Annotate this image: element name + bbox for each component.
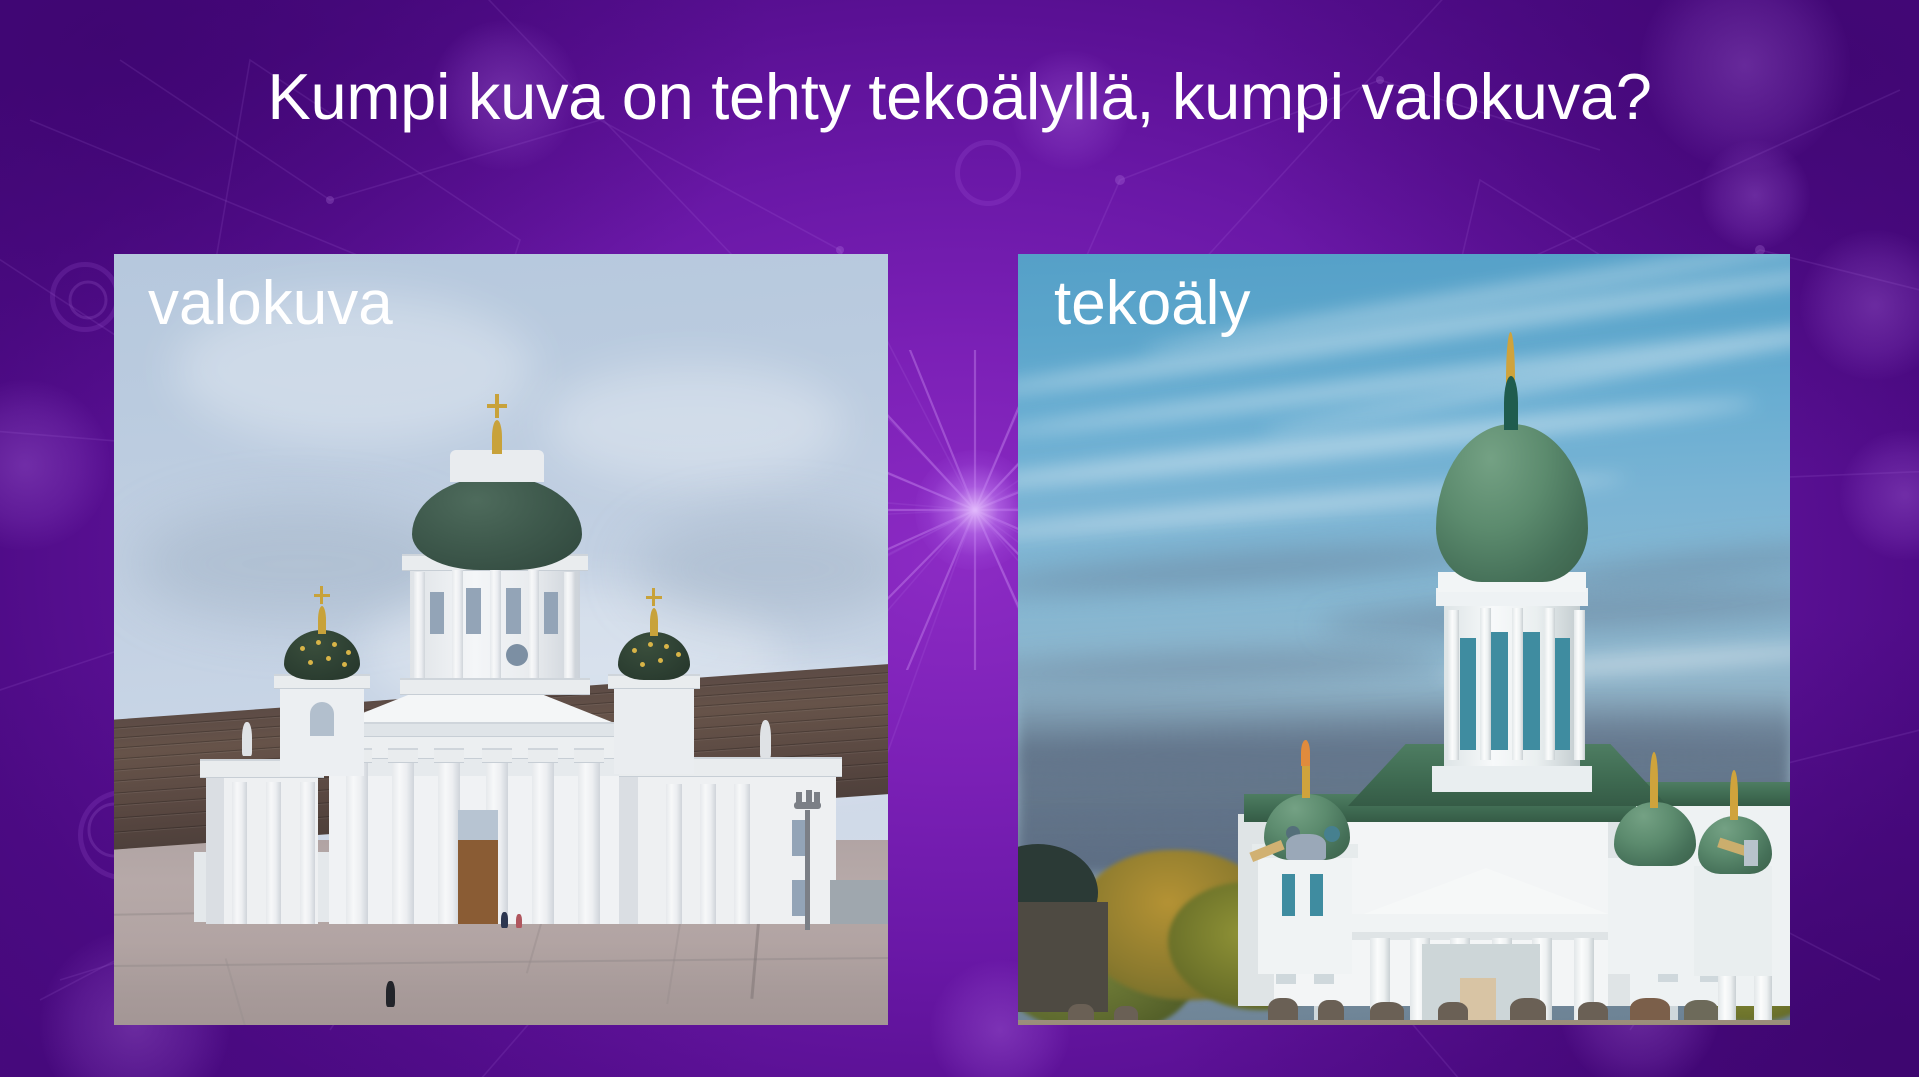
center-node-glow: [915, 450, 1035, 570]
terrace-wall: [1018, 1020, 1790, 1025]
image-label-left: valokuva: [148, 270, 393, 338]
image-card-right[interactable]: tekoäly: [1018, 254, 1790, 1025]
ai-image-helsinki-cathedral: tekoäly: [1018, 254, 1790, 1025]
slide-title: Kumpi kuva on tehty tekoälyllä, kumpi va…: [0, 62, 1919, 132]
image-card-left[interactable]: valokuva: [114, 254, 888, 1025]
photo-helsinki-cathedral: valokuva: [114, 254, 888, 1025]
slide-canvas: Kumpi kuva on tehty tekoälyllä, kumpi va…: [0, 0, 1919, 1077]
image-label-right: tekoäly: [1054, 270, 1250, 338]
